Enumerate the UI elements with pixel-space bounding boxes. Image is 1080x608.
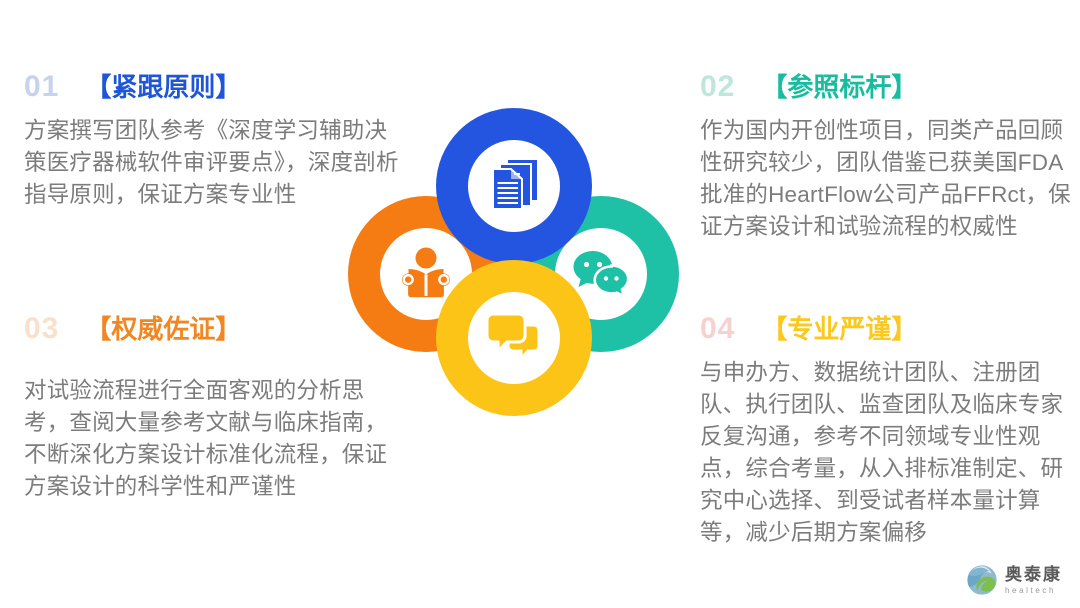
- feature-number-01: 01: [24, 70, 59, 103]
- documents-stack-icon: [487, 157, 541, 215]
- speech-bubbles-icon: [572, 249, 630, 299]
- chat-bubbles-icon: [485, 312, 543, 364]
- feature-block-01-header: 01 【紧跟原则】: [24, 70, 399, 103]
- ring-yellow: [436, 260, 592, 416]
- feature-body-04: 与申办方、数据统计团队、注册团队、执行团队、监查团队及临床专家反复沟通，参考不同…: [700, 357, 1075, 549]
- person-reading-icon: [398, 247, 454, 301]
- logo-name: 奥泰康: [1005, 566, 1062, 583]
- logo-subtitle: healtech: [1005, 587, 1062, 595]
- feature-block-02-header: 02 【参照标杆】: [700, 70, 1075, 103]
- feature-title-04: 【专业严谨】: [761, 315, 917, 344]
- company-logo: 奥泰康 healtech: [966, 564, 1062, 596]
- feature-block-04-header: 04 【专业严谨】: [700, 312, 1075, 345]
- feature-number-04: 04: [700, 312, 735, 345]
- feature-number-02: 02: [700, 70, 735, 103]
- globe-leaf-icon: [966, 564, 998, 596]
- feature-title-01: 【紧跟原则】: [85, 73, 241, 102]
- feature-block-02: 02 【参照标杆】 作为国内开创性项目，同类产品回顾性研究较少，团队借鉴已获美国…: [700, 70, 1075, 243]
- feature-number-03: 03: [24, 312, 59, 345]
- center-ring-cluster: [340, 100, 690, 420]
- logo-wordmark: 奥泰康 healtech: [1005, 566, 1062, 595]
- slide-canvas: 01 【紧跟原则】 方案撰写团队参考《深度学习辅助决策医疗器械软件审评要点》，深…: [0, 0, 1080, 608]
- feature-title-02: 【参照标杆】: [761, 73, 917, 102]
- ring-blue-inner: [468, 140, 560, 232]
- ring-blue: [436, 108, 592, 264]
- feature-title-03: 【权威佐证】: [85, 315, 241, 344]
- ring-yellow-inner: [468, 292, 560, 384]
- feature-block-04: 04 【专业严谨】 与申办方、数据统计团队、注册团队、执行团队、监查团队及临床专…: [700, 312, 1075, 549]
- feature-body-02: 作为国内开创性项目，同类产品回顾性研究较少，团队借鉴已获美国FDA批准的Hear…: [700, 115, 1075, 243]
